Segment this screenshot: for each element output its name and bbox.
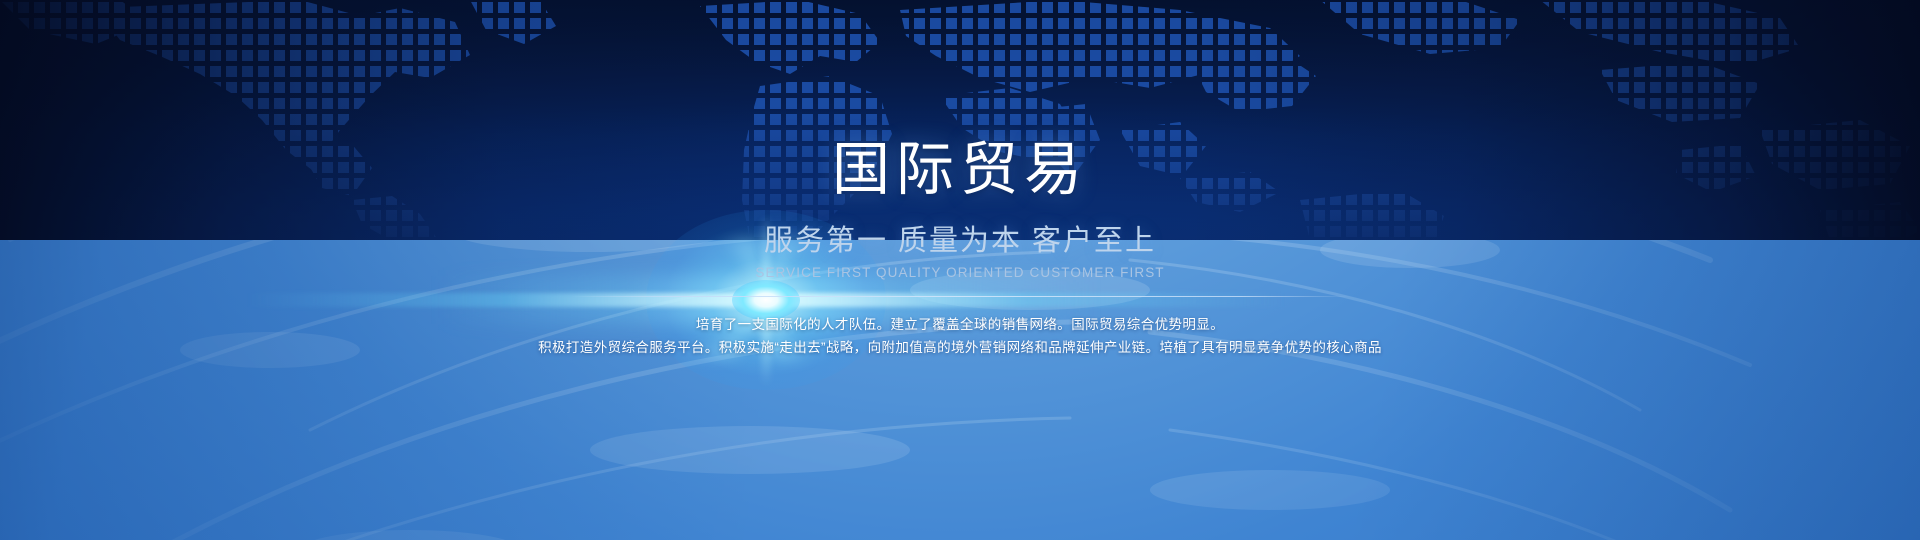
subtitle-chinese: 服务第一 质量为本 客户至上 (0, 217, 1920, 259)
subtitle-english: SERVICE FIRST QUALITY ORIENTED CUSTOMER … (0, 265, 1920, 280)
banner-content: 国际贸易 服务第一 质量为本 客户至上 SERVICE FIRST QUALIT… (0, 0, 1920, 359)
body-paragraph: 培育了一支国际化的人才队伍。建立了覆盖全球的销售网络。国际贸易综合优势明显。 积… (0, 313, 1920, 359)
horizontal-divider (570, 296, 1350, 297)
body-line-2: 积极打造外贸综合服务平台。积极实施“走出去”战略，向附加值高的境外营销网络和品牌… (0, 336, 1920, 359)
international-trade-banner: 国际贸易 服务第一 质量为本 客户至上 SERVICE FIRST QUALIT… (0, 0, 1920, 540)
page-title: 国际贸易 (0, 0, 1920, 201)
body-line-1: 培育了一支国际化的人才队伍。建立了覆盖全球的销售网络。国际贸易综合优势明显。 (0, 313, 1920, 336)
